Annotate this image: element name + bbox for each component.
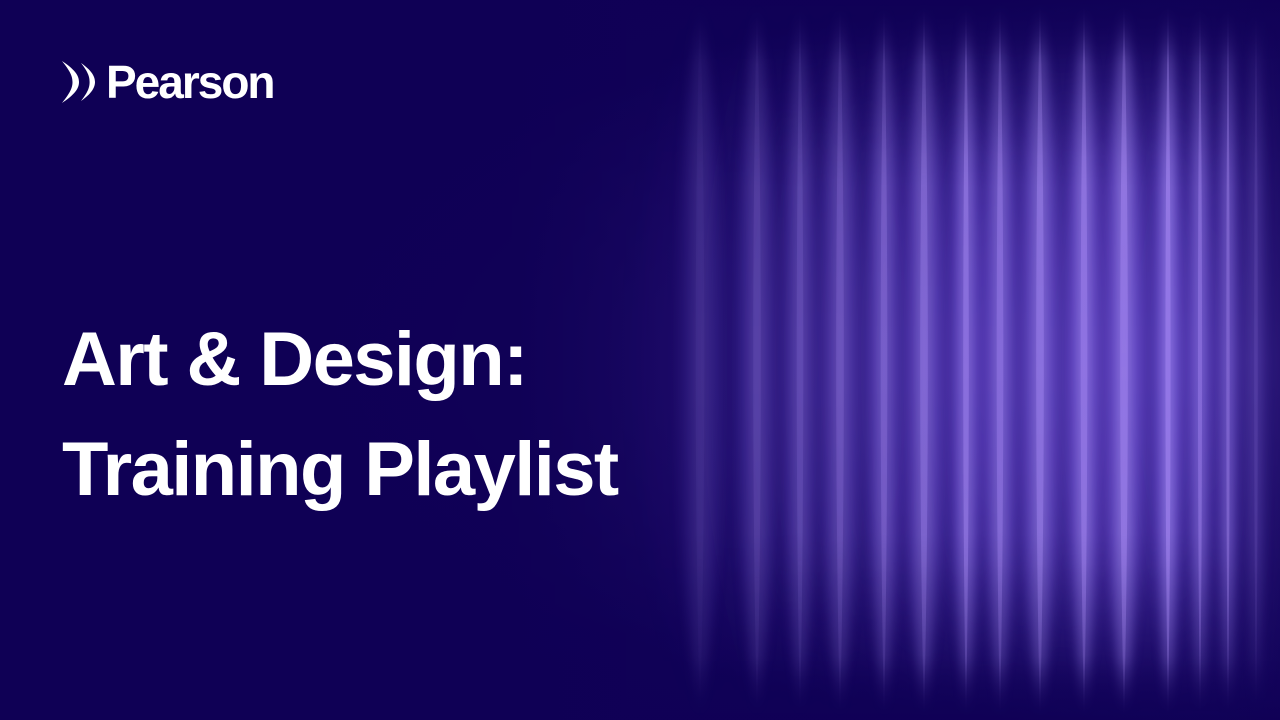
pearson-wordmark: Pearson xyxy=(106,59,274,105)
page-title: Art & Design: Training Playlist xyxy=(62,305,762,525)
title-line-2: Training Playlist xyxy=(62,415,762,525)
pearson-logo: Pearson xyxy=(60,57,274,107)
slide-canvas: Pearson Art & Design: Training Playlist xyxy=(0,0,1280,720)
pearson-double-crescent-icon xyxy=(60,59,100,105)
title-line-1: Art & Design: xyxy=(62,305,762,415)
